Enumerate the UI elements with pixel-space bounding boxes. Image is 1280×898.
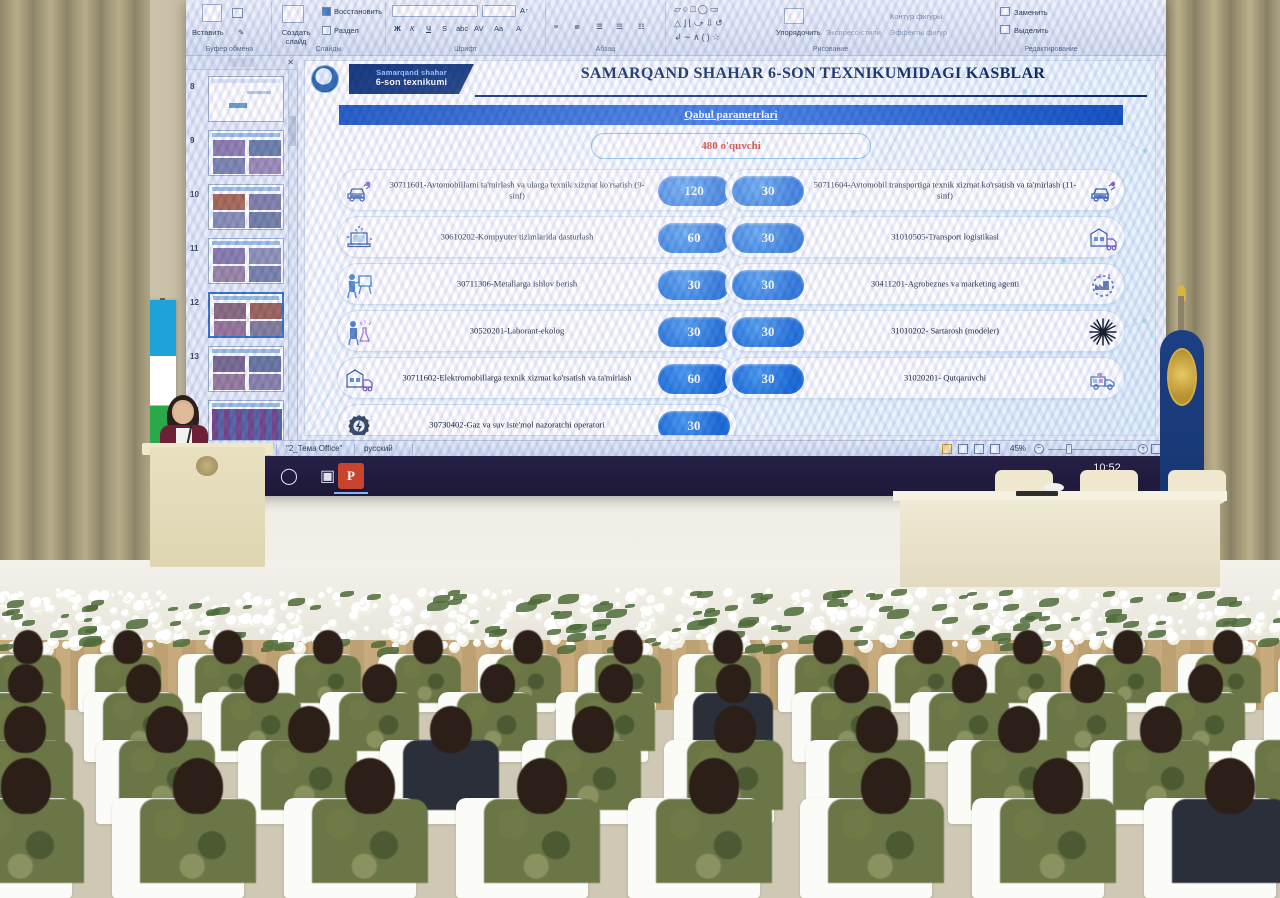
flower xyxy=(945,588,953,596)
thumb-title-bar xyxy=(212,349,280,353)
font-name-combo[interactable] xyxy=(392,5,478,17)
person-head xyxy=(173,758,223,814)
section-band: Qabul parametrlari xyxy=(339,105,1123,125)
flower xyxy=(381,629,388,636)
shapes-row-2[interactable]: △⌋⌊⤻⇩↺ xyxy=(674,18,725,29)
shape-effects-label[interactable]: Эффекты фигур xyxy=(890,28,947,37)
person-head xyxy=(861,758,911,814)
flower xyxy=(347,632,354,639)
person-head xyxy=(126,664,161,703)
ribbon: Вставить ✎ Буфер обмена Создать слайд Во… xyxy=(186,0,1166,56)
flower xyxy=(204,596,211,603)
person-head xyxy=(813,630,843,664)
leaf xyxy=(168,607,178,611)
leaf xyxy=(1003,604,1019,611)
profession-row[interactable]: 30711601-Avtomobillarni ta'mirlash va ul… xyxy=(337,169,737,211)
scrollbar-thumb[interactable] xyxy=(289,116,296,146)
flower xyxy=(469,609,480,620)
flower xyxy=(264,599,273,608)
flower xyxy=(70,590,77,597)
flower xyxy=(467,594,480,607)
presenter-board-icon xyxy=(344,271,374,299)
status-separator xyxy=(354,444,355,454)
italic-icon[interactable]: К xyxy=(410,24,414,33)
zoom-level[interactable]: 45% xyxy=(1010,444,1026,453)
char-spacing-icon[interactable]: AV xyxy=(474,24,483,33)
zoom-slider-track[interactable] xyxy=(1048,449,1136,450)
drawing-group-label: Рисование xyxy=(666,46,995,53)
thumb-title-bar xyxy=(212,403,280,407)
person-head xyxy=(8,664,43,703)
flower xyxy=(1098,617,1103,622)
podium-emblem-icon xyxy=(196,456,218,476)
grow-font-icon[interactable]: A↑ xyxy=(520,6,529,15)
profession-row[interactable]: 30 50711604-Avtomobil transportiga texni… xyxy=(725,169,1125,211)
thumb-photo xyxy=(214,303,246,319)
ribbon-group-clipboard: Вставить ✎ Буфер обмена xyxy=(188,2,272,54)
profession-row[interactable]: 30730402-Gaz va suv iste'mol nazoratchi … xyxy=(337,404,737,436)
person-head xyxy=(13,630,43,664)
new-slide-label[interactable]: Создать слайд xyxy=(276,28,316,46)
align-center-icon[interactable]: ☰ xyxy=(616,22,623,31)
strikethrough-icon[interactable]: abc xyxy=(456,24,468,33)
numbering-icon[interactable]: ≣ xyxy=(574,22,580,31)
shape-fill-icon[interactable] xyxy=(784,8,804,24)
person-head xyxy=(345,758,395,814)
font-color-icon[interactable]: A xyxy=(516,24,521,33)
profession-row[interactable]: 30 31010505-Transport logistikasi xyxy=(725,216,1125,258)
flower xyxy=(808,603,814,609)
flower xyxy=(1058,587,1068,597)
flower xyxy=(947,596,957,606)
slide-thumbnail-pane[interactable]: ✕ 8 9 10 xyxy=(186,56,298,440)
person-head xyxy=(613,630,643,664)
leaf xyxy=(470,620,479,624)
speaker-face xyxy=(174,403,192,424)
person-head xyxy=(288,706,330,753)
profession-label: 30711306-Metallarga ishlov berish xyxy=(382,279,652,290)
thumb-photo xyxy=(249,248,281,264)
thumb-title-bar xyxy=(212,241,280,245)
thumb-photo xyxy=(213,266,245,282)
leaf xyxy=(1229,601,1242,607)
flower xyxy=(468,626,476,634)
reset-icon[interactable] xyxy=(322,7,331,16)
flower xyxy=(675,614,685,624)
flower xyxy=(364,626,370,632)
select-icon[interactable] xyxy=(1000,25,1010,34)
flower xyxy=(111,620,123,632)
head-table xyxy=(900,497,1220,587)
flower xyxy=(863,623,876,636)
powerpoint-icon[interactable]: P xyxy=(338,463,364,489)
flower xyxy=(2,634,7,639)
thumb-photo xyxy=(213,248,245,264)
leaf xyxy=(84,618,92,622)
thumb-photo xyxy=(213,212,245,228)
flower xyxy=(335,601,342,608)
flower xyxy=(1156,594,1163,601)
clipboard-group-label: Буфер обмена xyxy=(188,46,271,53)
leaf xyxy=(126,619,148,629)
flower xyxy=(1068,589,1082,603)
status-separator xyxy=(276,444,277,454)
thumb-photo xyxy=(250,303,282,319)
flower xyxy=(110,607,119,616)
flower xyxy=(1095,593,1100,598)
flower xyxy=(148,612,161,625)
thumb-title-bar xyxy=(212,79,280,83)
person-head xyxy=(716,664,751,703)
reset-label[interactable]: Восстановить xyxy=(334,7,382,16)
leaf xyxy=(22,620,35,626)
flower xyxy=(1185,591,1194,600)
leaf xyxy=(288,598,305,606)
flower xyxy=(155,602,161,608)
status-bar: Слайд 1 из 75 "2_Тема Office" русский 45… xyxy=(186,440,1166,456)
profession-label: 30711602-Elektromobillarga texnik xizmat… xyxy=(382,373,652,384)
replace-label[interactable]: Заменить xyxy=(1014,8,1048,17)
flower xyxy=(286,612,296,622)
taskview-icon[interactable]: ▣ xyxy=(320,466,340,486)
profession-label: 30610202-Kompyuter tizimlarida dasturlas… xyxy=(382,232,652,243)
copy-icon[interactable] xyxy=(232,8,243,18)
zoom-slider-knob[interactable] xyxy=(1066,444,1072,454)
logistics-truck-icon xyxy=(1088,224,1118,252)
person-head xyxy=(856,706,898,753)
flower xyxy=(318,592,326,600)
flower xyxy=(389,605,404,620)
view-sorter-icon[interactable] xyxy=(958,444,968,454)
flower xyxy=(1272,595,1279,602)
flower xyxy=(615,602,621,608)
bullets-icon[interactable]: ≡ xyxy=(554,22,558,31)
flower xyxy=(723,588,735,600)
person-head xyxy=(413,630,443,664)
thumb-photo xyxy=(249,212,281,228)
starburst-icon xyxy=(1088,318,1118,346)
language-indicator[interactable]: русский xyxy=(364,444,393,453)
columns-icon[interactable]: ☷ xyxy=(638,22,645,31)
flower xyxy=(48,605,56,613)
flower xyxy=(915,587,930,602)
flower xyxy=(279,591,286,598)
flower xyxy=(801,589,812,600)
flower xyxy=(129,594,136,601)
title-underline xyxy=(475,95,1147,97)
flower xyxy=(945,623,954,632)
person-head xyxy=(480,664,515,703)
slide-thumbnail-selected[interactable] xyxy=(208,292,284,338)
flower xyxy=(903,595,916,608)
thumb-table xyxy=(212,409,282,443)
flower xyxy=(118,590,124,596)
underline-icon[interactable]: Ч xyxy=(426,24,431,33)
profession-count: 30 xyxy=(658,411,730,436)
scene-root: Вставить ✎ Буфер обмена Создать слайд Во… xyxy=(0,0,1280,853)
thumb-photo xyxy=(249,266,281,282)
institution-badge: Samarqand shahar 6-son texnikumi xyxy=(349,64,474,94)
flower xyxy=(535,613,543,621)
flower xyxy=(590,595,599,604)
thumb-placeholder xyxy=(229,103,247,108)
leaf xyxy=(1039,598,1059,607)
thumbnail-pane-header: ✕ xyxy=(186,56,298,70)
profession-label: 30411201-Agrobeznes va marketing agenti xyxy=(810,279,1080,290)
format-painter-icon[interactable]: ✎ xyxy=(238,28,244,37)
ribbon-group-slides: Создать слайд Восстановить Раздел Слайды xyxy=(272,2,386,54)
leaf xyxy=(784,607,804,616)
view-normal-icon[interactable] xyxy=(942,444,952,454)
flower xyxy=(1110,597,1122,609)
flower xyxy=(860,611,868,619)
section-icon[interactable] xyxy=(322,26,331,35)
replace-icon[interactable] xyxy=(1000,7,1010,16)
person-head xyxy=(1113,630,1143,664)
close-icon[interactable]: ✕ xyxy=(287,58,294,67)
status-separator xyxy=(412,444,413,454)
powerpoint-window: Вставить ✎ Буфер обмена Создать слайд Во… xyxy=(186,0,1166,496)
leaf xyxy=(189,603,202,609)
flower xyxy=(1182,605,1188,611)
paste-icon[interactable] xyxy=(202,4,222,22)
profession-count: 30 xyxy=(658,317,730,347)
arrange-label[interactable]: Упорядочить xyxy=(776,28,821,37)
cortana-icon[interactable]: ◯ xyxy=(280,466,300,486)
profession-count: 30 xyxy=(658,270,730,300)
profession-row[interactable]: 30610202-Kompyuter tizimlarida dasturlas… xyxy=(337,216,737,258)
leaf xyxy=(310,605,321,610)
car-repair-icon xyxy=(344,177,374,205)
select-label[interactable]: Выделить xyxy=(1014,26,1049,35)
thumb-photo xyxy=(250,321,282,337)
flower xyxy=(1033,590,1039,596)
flower xyxy=(502,590,509,597)
thumb-photo xyxy=(213,374,245,390)
slide-thumbnail[interactable] xyxy=(208,238,284,284)
person-head xyxy=(244,664,279,703)
flower xyxy=(687,598,697,608)
zoom-out-button[interactable]: − xyxy=(1034,444,1044,454)
ribbon-group-paragraph: ≡ ≣ ☰ ☰ ☷ Абзац xyxy=(546,2,666,54)
leaf xyxy=(1148,630,1166,638)
thumbnail-number: 8 xyxy=(190,82,194,91)
flower xyxy=(1244,596,1251,603)
total-students-capsule: 480 o'quvchi xyxy=(591,133,871,159)
leaf xyxy=(760,594,773,600)
flower xyxy=(655,603,667,615)
profession-label: 30711601-Avtomobillarni ta'mirlash va ul… xyxy=(382,179,652,200)
badge-line-2: 6-son texnikumi xyxy=(349,77,474,88)
slide-canvas[interactable]: Samarqand shahar 6-son texnikumi SAMARQA… xyxy=(304,60,1156,436)
institution-logo-icon xyxy=(311,65,339,93)
profession-row[interactable]: 30 30411201-Agrobeznes va marketing agen… xyxy=(725,263,1125,305)
leaf xyxy=(1071,617,1080,621)
section-label[interactable]: Раздел xyxy=(334,26,359,35)
person-head xyxy=(4,706,46,753)
quick-styles-label[interactable]: Экспресс-стили xyxy=(826,28,881,37)
person-head xyxy=(572,706,614,753)
flower xyxy=(1198,603,1207,612)
audience xyxy=(0,640,1280,853)
gear-bolt-icon xyxy=(344,412,374,436)
thumb-title-bar xyxy=(212,133,280,137)
leaf xyxy=(999,590,1013,596)
leaf xyxy=(942,617,958,624)
flower xyxy=(482,589,492,599)
curtain-left xyxy=(0,0,150,600)
profession-row[interactable]: 30711602-Elektromobillarga texnik xizmat… xyxy=(337,357,737,399)
flower xyxy=(404,602,416,614)
paragraph-group-label: Абзац xyxy=(546,46,665,53)
leaf xyxy=(1273,618,1280,623)
thumb-photo xyxy=(249,158,281,174)
factory-gear-icon xyxy=(1088,271,1118,299)
flower xyxy=(328,619,338,629)
flower xyxy=(615,588,621,594)
profession-row[interactable]: 30 31020201- Qutqaruvchi xyxy=(725,357,1125,399)
flower xyxy=(259,628,266,635)
flower xyxy=(1038,628,1045,635)
flower xyxy=(1196,627,1208,639)
thumb-placeholder xyxy=(247,91,271,94)
leaf xyxy=(704,610,720,617)
leaf xyxy=(592,624,607,631)
view-reading-icon[interactable] xyxy=(974,444,984,454)
leaf xyxy=(778,626,791,632)
paste-label[interactable]: Вставить xyxy=(192,28,224,37)
flower xyxy=(1256,612,1267,623)
flower xyxy=(981,615,989,623)
flower xyxy=(1269,621,1280,636)
flower xyxy=(664,587,675,598)
person-head xyxy=(517,758,567,814)
leaf xyxy=(50,630,68,638)
thumb-photo xyxy=(213,356,245,372)
thumbnail-tab[interactable] xyxy=(228,58,254,67)
ribbon-group-font: A↑ Ж К Ч S abc AV Aa A Шрифт xyxy=(386,2,546,54)
slide-thumbnail[interactable] xyxy=(208,130,284,176)
thumb-photo xyxy=(249,356,281,372)
profession-label: 50711604-Avtomobil transportiga texnik x… xyxy=(810,179,1080,200)
profession-row[interactable]: 30520201-Laborant-ekolog 30 xyxy=(337,310,737,352)
zoom-in-button[interactable]: + xyxy=(1138,444,1148,454)
flower xyxy=(1091,601,1100,610)
person-head xyxy=(1070,664,1105,703)
flower xyxy=(121,609,130,618)
slide-thumbnail[interactable] xyxy=(208,76,284,122)
leaf xyxy=(82,605,98,612)
profession-count: 30 xyxy=(732,223,804,253)
view-slideshow-icon[interactable] xyxy=(990,444,1000,454)
shapes-row-3[interactable]: ↲∼∧()☆ xyxy=(674,32,722,43)
shape-outline-label[interactable]: Контур фигуры xyxy=(890,12,942,21)
flower xyxy=(646,595,657,606)
person-torso xyxy=(0,799,84,883)
shadow-icon[interactable]: S xyxy=(442,24,447,33)
thumbnail-scrollbar[interactable] xyxy=(288,70,297,440)
person-head xyxy=(1013,630,1043,664)
flower xyxy=(30,597,44,611)
profession-count: 60 xyxy=(658,364,730,394)
flower xyxy=(1181,629,1187,635)
thumb-photo xyxy=(213,158,245,174)
thumb-photo xyxy=(214,321,246,337)
projection-screen: Вставить ✎ Буфер обмена Создать слайд Во… xyxy=(186,0,1166,496)
person-head xyxy=(1205,758,1255,814)
thumbnail-number: 11 xyxy=(190,244,198,253)
flag-emblem-icon xyxy=(1167,348,1197,406)
font-size-combo[interactable] xyxy=(482,5,516,17)
slide-thumbnail[interactable] xyxy=(208,346,284,392)
bold-icon[interactable]: Ж xyxy=(394,24,401,33)
thumb-photo xyxy=(249,374,281,390)
thumb-title-bar xyxy=(212,187,280,191)
theme-name[interactable]: "2_Тема Office" xyxy=(286,444,342,453)
slide-thumbnail[interactable] xyxy=(208,184,284,230)
person-head xyxy=(714,706,756,753)
flower xyxy=(830,616,838,624)
person-head xyxy=(713,630,743,664)
person-head xyxy=(513,630,543,664)
slides-group-label: Слайды xyxy=(272,46,385,53)
align-left-icon[interactable]: ☰ xyxy=(596,22,603,31)
rescue-truck-icon xyxy=(1088,365,1118,393)
person-head xyxy=(362,664,397,703)
change-case-icon[interactable]: Aa xyxy=(494,24,503,33)
flower xyxy=(372,603,379,610)
flower xyxy=(359,600,366,607)
flower xyxy=(1012,589,1026,603)
leaf xyxy=(7,600,24,608)
flower xyxy=(1081,610,1093,622)
thumbnail-number: 12 xyxy=(190,298,199,307)
profession-count: 120 xyxy=(658,176,730,206)
flower xyxy=(57,618,63,624)
flower xyxy=(349,611,360,622)
person-head xyxy=(834,664,869,703)
shapes-row-1[interactable]: ▱○□◯▭ xyxy=(674,4,720,15)
editing-group-label: Редактирование xyxy=(996,46,1106,53)
person-head xyxy=(689,758,739,814)
profession-row[interactable]: 30 31010202- Sartarosh (modeler) xyxy=(725,310,1125,352)
person-head xyxy=(213,630,243,664)
person-head xyxy=(113,630,143,664)
ribbon-group-editing: Заменить Выделить Редактирование xyxy=(996,2,1106,54)
flower xyxy=(72,604,80,612)
person-head xyxy=(1213,630,1243,664)
leaf xyxy=(1130,597,1143,603)
flower xyxy=(417,588,429,600)
leaf xyxy=(693,611,702,615)
profession-label: 31020201- Qutqaruvchi xyxy=(810,373,1080,384)
new-slide-icon[interactable] xyxy=(282,5,304,23)
profession-row[interactable]: 30711306-Metallarga ishlov berish 30 xyxy=(337,263,737,305)
slide-title: SAMARQAND SHAHAR 6-SON TEXNIKUMIDAGI KAS… xyxy=(485,65,1141,83)
flower xyxy=(326,587,334,595)
flower xyxy=(209,615,216,622)
thumbnail-number: 9 xyxy=(190,136,194,145)
leaf xyxy=(61,614,69,618)
flower xyxy=(507,607,515,615)
person-head xyxy=(1,758,51,814)
profession-count: 30 xyxy=(732,317,804,347)
slide-header: Samarqand shahar 6-son texnikumi SAMARQA… xyxy=(305,61,1156,97)
profession-count: 60 xyxy=(658,223,730,253)
flower xyxy=(498,619,505,626)
flower xyxy=(226,615,239,628)
person-head xyxy=(1140,706,1182,753)
